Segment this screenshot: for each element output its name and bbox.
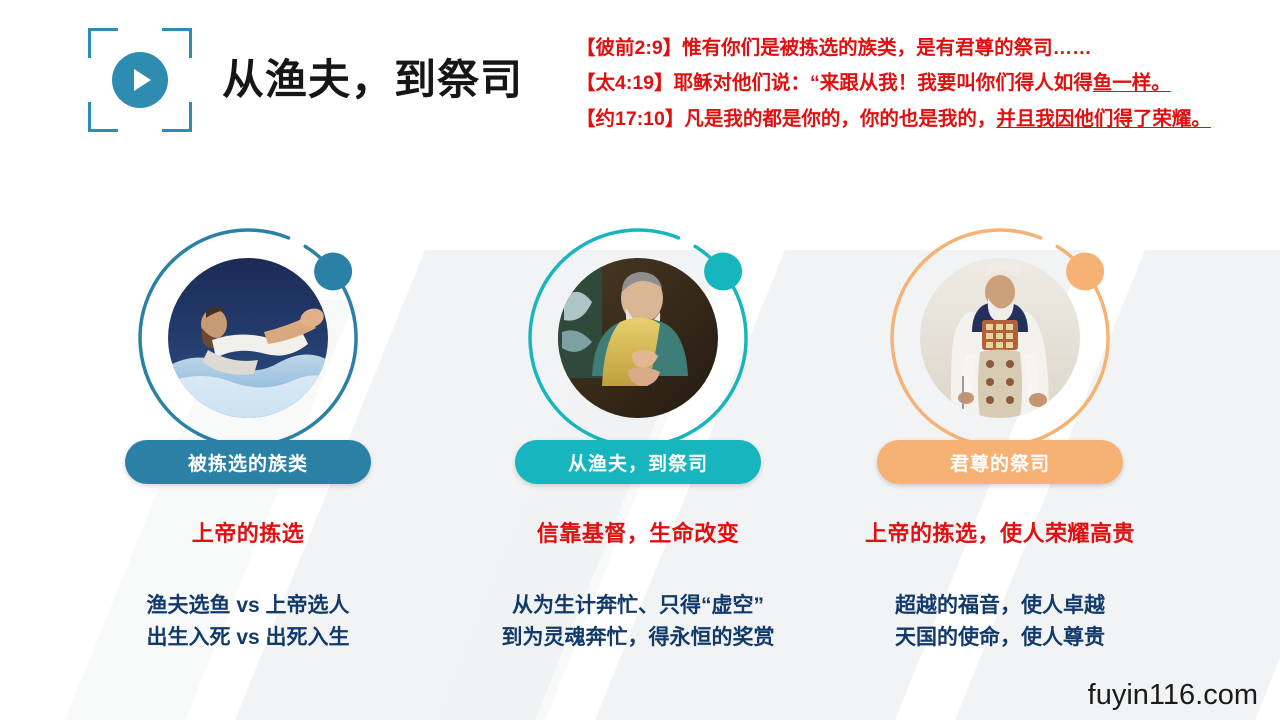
- bracket-corner-top-left: [88, 28, 118, 58]
- circle-ring-wrapper: [880, 218, 1120, 458]
- bracket-corner-bottom-left: [88, 102, 118, 132]
- verse-text-underlined: 鱼一样。: [1093, 72, 1171, 94]
- scripture-verse: 【约17:10】凡是我的都是你的，你的也是我的，并且我因他们得了荣耀。: [576, 105, 1266, 133]
- ring-accent-dot: [314, 253, 352, 291]
- blue-body-line: 渔夫选鱼 vs 上帝选人: [68, 590, 428, 622]
- blue-body-line: 出生入死 vs 出死入生: [68, 622, 428, 654]
- circle-ring-wrapper: [518, 218, 758, 458]
- category-pill-3[interactable]: 君尊的祭司: [877, 440, 1123, 484]
- column-1: 被拣选的族类上帝的拣选渔夫选鱼 vs 上帝选人出生入死 vs 出死入生: [68, 218, 428, 653]
- circle-ring-wrapper: [128, 218, 368, 458]
- red-heading-2: 信靠基督，生命改变: [458, 516, 818, 548]
- red-heading-3: 上帝的拣选，使人荣耀高贵: [820, 516, 1180, 548]
- page-title: 从渔夫，到祭司: [222, 46, 523, 107]
- blue-body-2: 从为生计奔忙、只得“虚空”到为灵魂奔忙，得永恒的奖赏: [458, 590, 818, 653]
- blue-body-line: 到为灵魂奔忙，得永恒的奖赏: [458, 622, 818, 654]
- site-watermark: fuyin116.com: [1088, 679, 1258, 712]
- verse-text: 【太4:19】耶稣对他们说：“来跟从我！我要叫你们得人如得: [576, 72, 1093, 94]
- column-3: 君尊的祭司上帝的拣选，使人荣耀高贵超越的福音，使人卓越天国的使命，使人尊贵: [820, 218, 1180, 653]
- verse-text-underlined: 并且我因他们得了荣耀。: [996, 108, 1211, 130]
- bracket-corner-bottom-right: [162, 102, 192, 132]
- bracket-corner-top-right: [162, 28, 192, 58]
- blue-body-line: 天国的使命，使人尊贵: [820, 622, 1180, 654]
- blue-body-line: 超越的福音，使人卓越: [820, 590, 1180, 622]
- blue-body-3: 超越的福音，使人卓越天国的使命，使人尊贵: [820, 590, 1180, 653]
- high-priest-in-vestments-photo: [920, 258, 1080, 418]
- tears-of-saint-peter-photo: [558, 258, 718, 418]
- red-heading-1: 上帝的拣选: [68, 516, 428, 548]
- scripture-verse: 【彼前2:9】惟有你们是被拣选的族类，是有君尊的祭司……: [576, 34, 1266, 62]
- ring-accent-dot: [704, 253, 742, 291]
- ring-accent-dot: [1066, 253, 1104, 291]
- column-2: 从渔夫，到祭司信靠基督，生命改变从为生计奔忙、只得“虚空”到为灵魂奔忙，得永恒的…: [458, 218, 818, 653]
- peter-rescued-from-water-photo: [168, 258, 328, 418]
- play-triangle: [134, 69, 151, 91]
- category-pill-2[interactable]: 从渔夫，到祭司: [515, 440, 761, 484]
- blue-body-line: 从为生计奔忙、只得“虚空”: [458, 590, 818, 622]
- category-pill-1[interactable]: 被拣选的族类: [125, 440, 371, 484]
- presentation-slide: 从渔夫，到祭司 【彼前2:9】惟有你们是被拣选的族类，是有君尊的祭司……【太4:…: [0, 0, 1280, 720]
- scripture-verse: 【太4:19】耶稣对他们说：“来跟从我！我要叫你们得人如得鱼一样。: [576, 69, 1266, 97]
- play-button-logo-icon: [88, 28, 192, 132]
- play-icon: [112, 52, 168, 108]
- blue-body-1: 渔夫选鱼 vs 上帝选人出生入死 vs 出死入生: [68, 590, 428, 653]
- scripture-block: 【彼前2:9】惟有你们是被拣选的族类，是有君尊的祭司……【太4:19】耶稣对他们…: [576, 34, 1266, 140]
- verse-text: 【约17:10】凡是我的都是你的，你的也是我的，: [576, 108, 996, 130]
- verse-text: 【彼前2:9】惟有你们是被拣选的族类，是有君尊的祭司……: [576, 37, 1092, 59]
